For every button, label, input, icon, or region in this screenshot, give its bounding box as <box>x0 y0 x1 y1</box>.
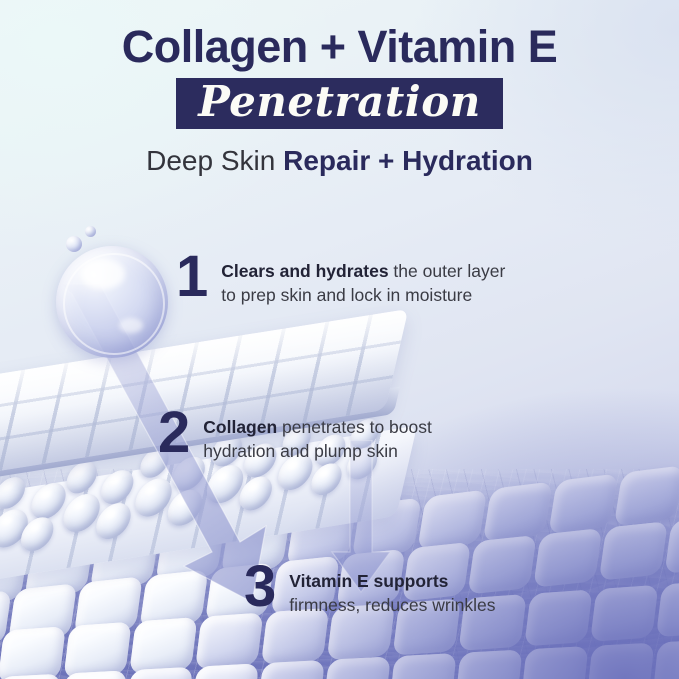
step-lead: Collagen <box>203 417 277 437</box>
subtitle-plain: Deep Skin <box>146 145 283 176</box>
step-item-1: 1 Clears and hydrates the outer layer to… <box>176 252 505 307</box>
script-title-banner: Penetration <box>176 78 503 130</box>
step-number-3: 3 <box>244 562 276 612</box>
page-title: Collagen + Vitamin E <box>0 24 679 71</box>
infographic-canvas: Collagen + Vitamin E Penetration Deep Sk… <box>0 0 679 679</box>
step-rest: penetrates to boost <box>277 417 432 437</box>
step-lead: Vitamin E supports <box>289 571 448 591</box>
step-number-1: 1 <box>176 252 208 302</box>
subtitle-accent: Repair + Hydration <box>283 145 533 176</box>
step-line-secondary: to prep skin and lock in moisture <box>221 283 505 307</box>
step-number-2: 2 <box>158 408 190 458</box>
headline-block: Collagen + Vitamin E Penetration Deep Sk… <box>0 24 679 177</box>
step-lead: Clears and hydrates <box>221 261 388 281</box>
step-item-2: 2 Collagen penetrates to boost hydration… <box>158 408 432 463</box>
script-title: Penetration <box>198 80 481 125</box>
step-text-1: Clears and hydrates the outer layer to p… <box>221 252 505 307</box>
step-text-2: Collagen penetrates to boost hydration a… <box>203 408 432 463</box>
step-line-secondary: firmness, reduces wrinkles <box>289 593 495 617</box>
step-line-primary: Vitamin E supports <box>289 569 495 593</box>
step-item-3: 3 Vitamin E supports firmness, reduces w… <box>244 562 495 617</box>
step-line-secondary: hydration and plump skin <box>203 439 432 463</box>
subtitle: Deep Skin Repair + Hydration <box>0 145 679 177</box>
step-text-3: Vitamin E supports firmness, reduces wri… <box>289 562 495 617</box>
step-line-primary: Clears and hydrates the outer layer <box>221 259 505 283</box>
step-rest: the outer layer <box>389 261 506 281</box>
step-line-primary: Collagen penetrates to boost <box>203 415 432 439</box>
